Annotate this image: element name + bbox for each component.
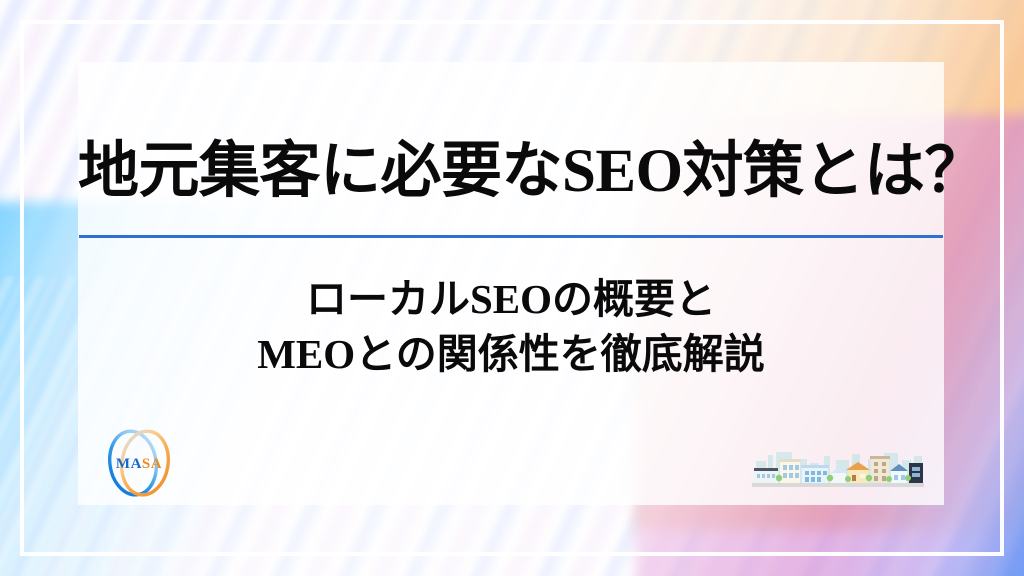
title-divider [79,235,943,238]
building-cream-tall [779,459,801,483]
page-subtitle: ローカルSEOの概要と MEOとの関係性を徹底解説 [78,272,944,383]
logo: MASA [92,421,188,507]
logo-text-ma: MA [116,456,142,472]
logo-text-sa: SA [142,456,162,472]
slide-canvas: 地元集客に必要なSEO対策とは？ ローカルSEOの概要と MEOとの関係性を徹底… [0,0,1024,576]
building-modern-dark [909,463,923,483]
subtitle-line-2: MEOとの関係性を徹底解説 [78,327,944,382]
city-ground [752,483,924,487]
subtitle-line-1: ローカルSEOの概要と [78,272,944,327]
page-title: 地元集客に必要なSEO対策とは？ [78,141,944,202]
building-shop-row [801,465,829,483]
cityscape-illustration [752,447,924,491]
logo-text: MASA [116,456,162,472]
building-school [754,468,778,483]
